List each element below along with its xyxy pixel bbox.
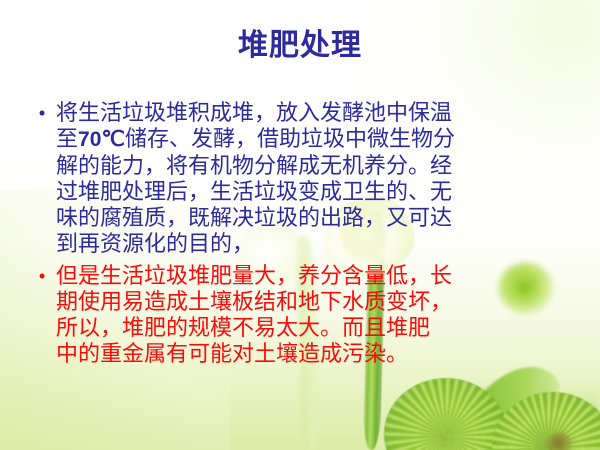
bullet-1-line-5: 味的腐殖质，既解决垃圾的出路，又可达: [56, 205, 576, 231]
bullet-marker-icon: •: [28, 100, 56, 126]
bullet-2-line-2: 期使用易造成土壤板结和地下水质变坏，: [56, 289, 576, 315]
bullet-1-line-2-suffix: 储存、发酵，借助垃圾中微生物分: [125, 126, 455, 151]
bullet-item-1-text: 将生活垃圾堆积成堆，放入发酵池中保温 至70℃储存、发酵，借助垃圾中微生物分 解…: [56, 100, 576, 257]
bullet-1-line-3: 解的能力，将有机物分解成无机养分。经: [56, 153, 576, 179]
bullet-marker-icon: •: [28, 263, 56, 289]
bullet-2-line-1: 但是生活垃圾堆肥量大，养分含量低，长: [56, 263, 576, 289]
presentation-slide: 堆肥处理 • 将生活垃圾堆积成堆，放入发酵池中保温 至70℃储存、发酵，借助垃圾…: [0, 0, 600, 450]
bullet-1-line-6: 到再资源化的目的，: [56, 231, 576, 257]
bullet-1-line-2-prefix: 至: [56, 126, 78, 151]
bullet-item-2-text: 但是生活垃圾堆肥量大，养分含量低，长 期使用易造成土壤板结和地下水质变坏， 所以…: [56, 263, 576, 367]
slide-title: 堆肥处理: [0, 28, 600, 64]
bullet-1-line-2: 至70℃储存、发酵，借助垃圾中微生物分: [56, 126, 576, 153]
bullet-2-line-3: 所以，堆肥的规模不易太大。而且堆肥: [56, 315, 576, 341]
temperature-value: 70℃: [78, 128, 125, 151]
slide-content: 堆肥处理 • 将生活垃圾堆积成堆，放入发酵池中保温 至70℃储存、发酵，借助垃圾…: [0, 0, 600, 450]
bullet-1-line-4: 过堆肥处理后，生活垃圾变成卫生的、无: [56, 179, 576, 205]
bullet-1-line-1: 将生活垃圾堆积成堆，放入发酵池中保温: [56, 100, 576, 126]
bullet-2-line-4: 中的重金属有可能对土壤造成污染。: [56, 341, 576, 367]
slide-body: • 将生活垃圾堆积成堆，放入发酵池中保温 至70℃储存、发酵，借助垃圾中微生物分…: [28, 100, 576, 367]
bullet-item-2: • 但是生活垃圾堆肥量大，养分含量低，长 期使用易造成土壤板结和地下水质变坏， …: [28, 263, 576, 367]
bullet-item-1: • 将生活垃圾堆积成堆，放入发酵池中保温 至70℃储存、发酵，借助垃圾中微生物分…: [28, 100, 576, 257]
